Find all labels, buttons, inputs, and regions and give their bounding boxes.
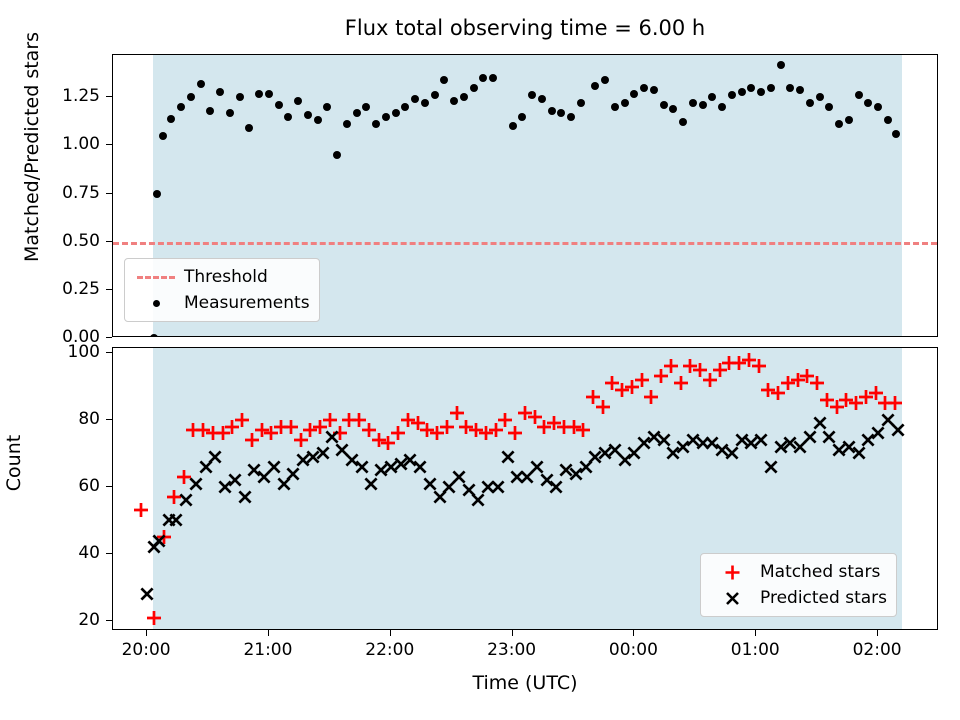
- measurement-point: [591, 82, 599, 90]
- y-tick-mark: [106, 553, 112, 554]
- measurement-point: [255, 90, 263, 98]
- measurement-point: [226, 109, 234, 117]
- measurement-point: [275, 101, 283, 109]
- y-tick-label: 20: [0, 610, 100, 630]
- matched-star-point: [507, 425, 523, 441]
- measurement-point: [382, 113, 390, 121]
- y-tick-label: 0.75: [0, 183, 100, 203]
- measurement-point: [314, 116, 322, 124]
- measurement-point: [884, 116, 892, 124]
- predicted-star-point: [354, 459, 370, 475]
- top-panel-y-axis-label: Matched/Predicted stars: [21, 0, 43, 297]
- measurement-point: [845, 116, 853, 124]
- figure-title: Flux total observing time = 6.00 h: [112, 16, 938, 40]
- measurement-point: [284, 113, 292, 121]
- predicted-star-point: [500, 449, 516, 465]
- predicted-star-point: [490, 479, 506, 495]
- y-tick-label: 0.25: [0, 279, 100, 299]
- matched-star-point: [643, 389, 659, 405]
- measurement-point: [236, 93, 244, 101]
- dot-marker-key-icon: [134, 300, 178, 307]
- matched-star-point: [673, 375, 689, 391]
- y-tick-mark: [106, 144, 112, 145]
- measurement-point: [450, 97, 458, 105]
- measurement-point: [892, 130, 900, 138]
- measurement-point: [294, 97, 302, 105]
- measurement-point: [796, 86, 804, 94]
- measurement-point: [153, 190, 161, 198]
- measurement-point: [528, 91, 536, 99]
- measurement-point: [738, 88, 746, 96]
- measurement-point: [421, 99, 429, 107]
- y-tick-label: 1.00: [0, 134, 100, 154]
- x-tick-label: 22:00: [365, 640, 414, 660]
- y-tick-mark: [106, 620, 112, 621]
- measurement-point: [470, 84, 478, 92]
- predicted-star-point: [412, 459, 428, 475]
- legend-item-threshold[interactable]: Threshold: [134, 264, 310, 290]
- legend-item-matched-stars[interactable]: Matched stars: [710, 559, 887, 585]
- measurement-point: [362, 103, 370, 111]
- matched-star-point: [133, 502, 149, 518]
- x-tick-mark: [390, 630, 391, 636]
- measurement-point: [509, 122, 517, 130]
- measurement-point: [601, 76, 609, 84]
- dashed-line-key-icon: [134, 276, 178, 279]
- predicted-star-point: [227, 472, 243, 488]
- plus-marker-key-icon: [710, 564, 754, 581]
- measurement-point: [669, 105, 677, 113]
- measurement-point: [401, 103, 409, 111]
- measurement-point: [855, 91, 863, 99]
- y-tick-label: 0.50: [0, 231, 100, 251]
- measurement-point: [874, 103, 882, 111]
- predicted-star-point: [188, 476, 204, 492]
- predicted-star-point: [237, 489, 253, 505]
- y-tick-mark: [106, 486, 112, 487]
- predicted-star-point: [151, 533, 167, 549]
- measurement-point: [431, 91, 439, 99]
- matched-star-point: [595, 399, 611, 415]
- matched-star-point: [663, 358, 679, 374]
- measurement-point: [167, 115, 175, 123]
- measurement-point: [538, 95, 546, 103]
- predicted-star-point: [890, 422, 906, 438]
- threshold-line: [113, 242, 937, 245]
- measurement-point: [577, 99, 585, 107]
- measurement-point: [747, 84, 755, 92]
- measurement-point: [333, 151, 341, 159]
- measurement-point: [411, 95, 419, 103]
- measurement-point: [825, 103, 833, 111]
- matched-star-point: [634, 372, 650, 388]
- y-tick-mark: [106, 289, 112, 290]
- x-axis-label: Time (UTC): [112, 672, 938, 694]
- cross-marker-key-icon: [710, 590, 754, 607]
- measurement-point: [718, 103, 726, 111]
- measurement-point: [479, 74, 487, 82]
- x-tick-label: 01:00: [731, 640, 780, 660]
- measurement-point: [767, 84, 775, 92]
- y-tick-mark: [106, 193, 112, 194]
- predicted-star-point: [548, 479, 564, 495]
- measurement-point: [699, 101, 707, 109]
- measurement-point: [206, 107, 214, 115]
- measurement-point: [197, 80, 205, 88]
- predicted-star-point: [139, 586, 155, 602]
- x-tick-mark: [755, 630, 756, 636]
- measurement-point: [567, 113, 575, 121]
- predicted-star-point: [763, 459, 779, 475]
- measurement-point: [489, 74, 497, 82]
- y-tick-mark: [106, 96, 112, 97]
- y-tick-label: 1.25: [0, 86, 100, 106]
- measurement-point: [353, 109, 361, 117]
- measurement-point: [757, 88, 765, 96]
- x-tick-label: 20:00: [122, 640, 171, 660]
- measurement-point: [689, 99, 697, 107]
- predicted-star-point: [207, 449, 223, 465]
- y-tick-mark: [106, 352, 112, 353]
- measurement-point: [150, 334, 158, 337]
- bottom-panel-legend[interactable]: Matched stars Predicted stars: [700, 553, 897, 617]
- x-tick-mark: [633, 630, 634, 636]
- measurement-point: [518, 113, 526, 121]
- measurement-point: [187, 93, 195, 101]
- measurement-point: [392, 109, 400, 117]
- measurement-point: [621, 99, 629, 107]
- x-tick-mark: [512, 630, 513, 636]
- measurement-point: [372, 120, 380, 128]
- x-tick-mark: [877, 630, 878, 636]
- measurement-point: [460, 93, 468, 101]
- measurement-point: [708, 93, 716, 101]
- matched-star-point: [234, 412, 250, 428]
- measurement-point: [265, 90, 273, 98]
- legend-item-predicted-stars[interactable]: Predicted stars: [710, 585, 887, 611]
- predicted-star-point: [168, 512, 184, 528]
- measurement-point: [343, 120, 351, 128]
- predicted-star-point: [753, 432, 769, 448]
- y-tick-mark: [106, 419, 112, 420]
- legend-label-predicted-stars: Predicted stars: [754, 588, 887, 608]
- measurement-point: [177, 103, 185, 111]
- bottom-panel-y-axis-label: Count: [3, 363, 25, 563]
- legend-item-measurements[interactable]: Measurements: [134, 290, 310, 316]
- x-tick-mark: [268, 630, 269, 636]
- measurement-point: [835, 120, 843, 128]
- matched-star-point: [146, 610, 162, 626]
- x-tick-label: 23:00: [487, 640, 536, 660]
- y-tick-mark: [106, 241, 112, 242]
- measurement-point: [679, 118, 687, 126]
- measurement-point: [557, 109, 565, 117]
- measurement-point: [640, 84, 648, 92]
- top-panel-legend[interactable]: Threshold Measurements: [124, 258, 320, 322]
- measurement-point: [216, 88, 224, 96]
- measurement-point: [777, 61, 785, 69]
- measurement-point: [728, 91, 736, 99]
- measurement-point: [806, 99, 814, 107]
- matched-star-point: [751, 358, 767, 374]
- legend-label-measurements: Measurements: [178, 293, 310, 313]
- matched-star-point: [575, 422, 591, 438]
- measurement-point: [611, 103, 619, 111]
- measurement-point: [816, 93, 824, 101]
- measurement-point: [159, 132, 167, 140]
- measurement-point: [245, 124, 253, 132]
- predicted-star-point: [315, 445, 331, 461]
- y-tick-label: 100: [0, 342, 100, 362]
- measurement-point: [548, 107, 556, 115]
- matched-star-point: [809, 375, 825, 391]
- measurement-point: [864, 99, 872, 107]
- matched-star-point: [887, 395, 903, 411]
- measurement-point: [630, 90, 638, 98]
- measurement-point: [323, 103, 331, 111]
- x-tick-label: 00:00: [609, 640, 658, 660]
- measurement-point: [786, 84, 794, 92]
- y-tick-mark: [106, 337, 112, 338]
- x-tick-label: 21:00: [243, 640, 292, 660]
- measurement-point: [440, 76, 448, 84]
- measurement-point: [650, 86, 658, 94]
- x-tick-mark: [146, 630, 147, 636]
- predicted-star-point: [178, 492, 194, 508]
- x-tick-label: 02:00: [853, 640, 902, 660]
- figure-canvas: Flux total observing time = 6.00 h 0.000…: [0, 0, 960, 720]
- measurement-point: [304, 111, 312, 119]
- predicted-star-point: [266, 459, 282, 475]
- measurement-point: [660, 101, 668, 109]
- legend-label-threshold: Threshold: [178, 267, 268, 287]
- legend-label-matched-stars: Matched stars: [754, 562, 880, 582]
